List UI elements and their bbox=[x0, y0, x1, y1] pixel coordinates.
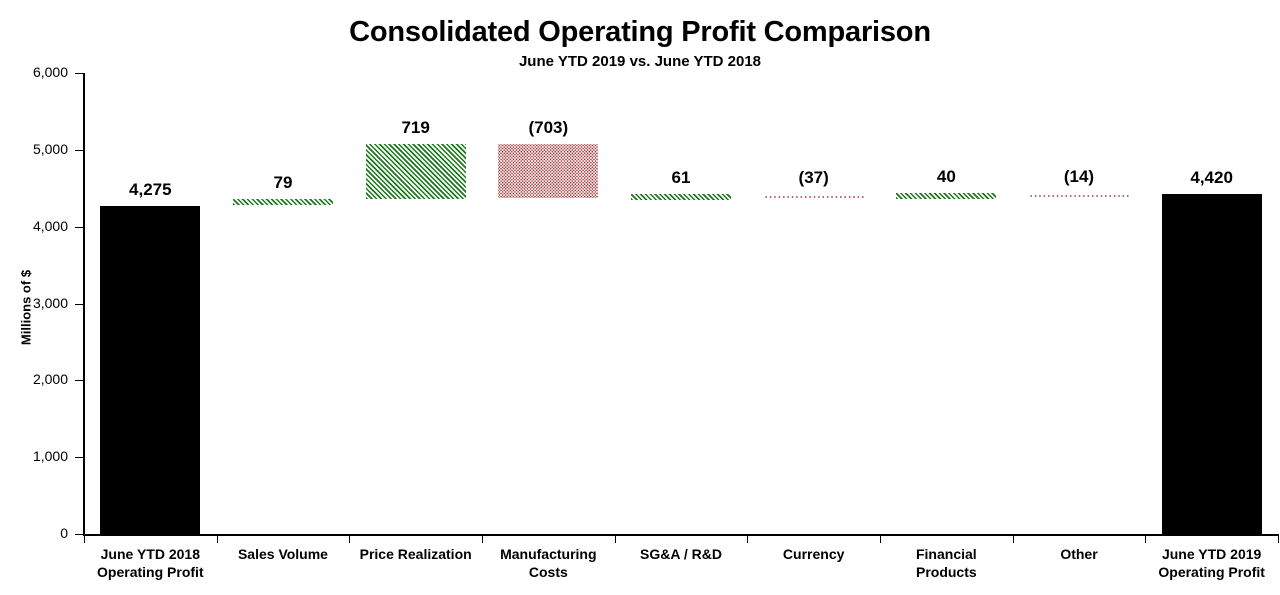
bar-8 bbox=[1029, 193, 1129, 199]
y-tick-label: 6,000 bbox=[0, 64, 68, 80]
x-category-label: FinancialProducts bbox=[880, 545, 1013, 581]
x-tick-mark bbox=[1278, 534, 1279, 543]
x-category-label-line: Operating Profit bbox=[84, 563, 217, 581]
x-tick-mark bbox=[482, 534, 483, 543]
y-tick-mark bbox=[75, 457, 84, 458]
x-tick-mark bbox=[84, 534, 85, 543]
y-tick-label: 2,000 bbox=[0, 371, 68, 387]
y-tick-mark bbox=[75, 73, 84, 74]
bar-5 bbox=[631, 194, 731, 200]
x-category-label-line: Other bbox=[1013, 545, 1146, 563]
y-tick-mark bbox=[75, 304, 84, 305]
chart-title: Consolidated Operating Profit Comparison bbox=[0, 16, 1280, 49]
x-category-label: SG&A / R&D bbox=[615, 545, 748, 563]
bar-7 bbox=[896, 193, 996, 199]
x-tick-mark bbox=[217, 534, 218, 543]
bar-4 bbox=[498, 144, 598, 198]
x-category-label-line: Financial bbox=[880, 545, 1013, 563]
x-category-label-line: June YTD 2018 bbox=[84, 545, 217, 563]
x-category-label-line: Operating Profit bbox=[1145, 563, 1278, 581]
bar-3 bbox=[366, 144, 466, 199]
bar-6 bbox=[764, 194, 864, 200]
x-category-label: Currency bbox=[747, 545, 880, 563]
x-tick-mark bbox=[880, 534, 881, 543]
data-label-5: 61 bbox=[615, 168, 748, 188]
chart-subtitle: June YTD 2019 vs. June YTD 2018 bbox=[0, 53, 1280, 70]
bar-9 bbox=[1162, 194, 1262, 534]
y-tick-mark bbox=[75, 227, 84, 228]
waterfall-chart: Consolidated Operating Profit Comparison… bbox=[0, 0, 1280, 595]
y-tick-label: 5,000 bbox=[0, 141, 68, 157]
x-category-label-line: Costs bbox=[482, 563, 615, 581]
data-label-2: 79 bbox=[217, 173, 350, 193]
x-category-label-line: Sales Volume bbox=[217, 545, 350, 563]
x-tick-mark bbox=[1145, 534, 1146, 543]
bar-1 bbox=[100, 206, 200, 534]
x-category-label-line: Manufacturing bbox=[482, 545, 615, 563]
x-tick-mark bbox=[615, 534, 616, 543]
data-label-1: 4,275 bbox=[84, 180, 217, 200]
data-label-7: 40 bbox=[880, 167, 1013, 187]
x-category-label-line: Currency bbox=[747, 545, 880, 563]
y-tick-label: 1,000 bbox=[0, 448, 68, 464]
y-tick-mark bbox=[75, 380, 84, 381]
x-tick-mark bbox=[349, 534, 350, 543]
x-category-label-line: Price Realization bbox=[349, 545, 482, 563]
x-tick-mark bbox=[747, 534, 748, 543]
data-label-6: (37) bbox=[747, 168, 880, 188]
data-label-8: (14) bbox=[1013, 167, 1146, 187]
x-tick-mark bbox=[1013, 534, 1014, 543]
data-label-3: 719 bbox=[349, 118, 482, 138]
x-category-label: Other bbox=[1013, 545, 1146, 563]
data-label-4: (703) bbox=[482, 118, 615, 138]
y-tick-mark bbox=[75, 150, 84, 151]
y-tick-label: 3,000 bbox=[0, 295, 68, 311]
x-category-label: Sales Volume bbox=[217, 545, 350, 563]
x-category-label: ManufacturingCosts bbox=[482, 545, 615, 581]
x-category-label: Price Realization bbox=[349, 545, 482, 563]
y-tick-label: 4,000 bbox=[0, 218, 68, 234]
x-axis-line bbox=[83, 534, 1278, 536]
x-category-label: June YTD 2019Operating Profit bbox=[1145, 545, 1278, 581]
x-category-label-line: SG&A / R&D bbox=[615, 545, 748, 563]
x-category-label-line: Products bbox=[880, 563, 1013, 581]
bar-2 bbox=[233, 199, 333, 205]
data-label-9: 4,420 bbox=[1145, 168, 1278, 188]
x-category-label: June YTD 2018Operating Profit bbox=[84, 545, 217, 581]
y-tick-label: 0 bbox=[0, 525, 68, 541]
x-category-label-line: June YTD 2019 bbox=[1145, 545, 1278, 563]
y-tick-mark bbox=[75, 534, 84, 535]
